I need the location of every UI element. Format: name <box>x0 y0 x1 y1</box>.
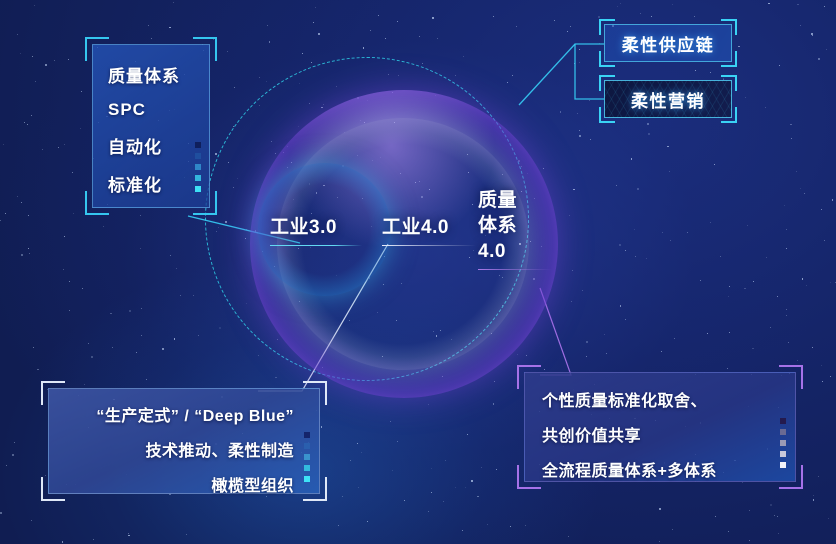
panel-personalized-quality-lines: 个性质量标准化取舍、 共创价值共享 全流程质量体系+多体系 <box>542 387 770 492</box>
corner-bracket-icon <box>779 465 803 489</box>
corner-bracket-icon <box>85 37 109 61</box>
list-item: 自动化 <box>108 133 200 158</box>
label-industry-30-text: 工业3.0 <box>270 212 362 239</box>
list-item: SPC <box>108 100 200 120</box>
corner-bracket-icon <box>303 381 327 405</box>
list-item: 共创价值共享 <box>542 422 770 446</box>
label-industry-40-underline <box>382 245 476 246</box>
corner-bracket-icon <box>517 365 541 389</box>
label-industry-30: 工业3.0 <box>270 212 362 246</box>
corner-bracket-icon <box>779 365 803 389</box>
panel-flexible-supply-chain[interactable]: 柔性供应链 <box>604 24 732 62</box>
panel-personalized-quality[interactable]: 个性质量标准化取舍、 共创价值共享 全流程质量体系+多体系 <box>524 372 796 482</box>
panel-flexible-marketing-label: 柔性营销 <box>604 80 732 118</box>
panel-quality-system-lines: 质量体系 SPC 自动化 标准化 <box>108 62 200 209</box>
panel-flexible-marketing[interactable]: 柔性营销 <box>604 80 732 118</box>
corner-bracket-icon <box>85 191 109 215</box>
corner-bracket-icon <box>193 37 217 61</box>
label-quality-line1: 质量 <box>478 188 552 213</box>
dot-column-decoration <box>304 432 310 482</box>
panel-flexible-supply-chain-label: 柔性供应链 <box>604 24 732 62</box>
label-quality-line3: 4.0 <box>478 239 552 264</box>
list-item: 质量体系 <box>108 62 200 87</box>
label-industry-40: 工业4.0 <box>382 212 476 246</box>
label-quality-underline <box>478 269 552 270</box>
list-item: 技术推动、柔性制造 <box>62 437 294 461</box>
corner-bracket-icon <box>517 465 541 489</box>
label-quality-line2: 体系 <box>478 213 552 238</box>
list-item: 橄榄型组织 <box>62 472 294 496</box>
dot-column-decoration <box>780 418 786 468</box>
label-quality-system-40: 质量 体系 4.0 <box>478 188 552 270</box>
connector-top-right <box>519 44 604 105</box>
list-item: 全流程质量体系+多体系 <box>542 457 770 481</box>
list-item: “生产定式” / “Deep Blue” <box>62 402 294 426</box>
infographic-canvas: 工业3.0 工业4.0 质量 体系 4.0 质量体系 SPC 自动化 标准化 <box>0 0 836 544</box>
list-item: 个性质量标准化取舍、 <box>542 387 770 411</box>
panel-quality-system-list[interactable]: 质量体系 SPC 自动化 标准化 <box>92 44 210 208</box>
label-industry-40-text: 工业4.0 <box>382 212 476 239</box>
dot-column-decoration <box>195 142 201 192</box>
list-item: 标准化 <box>108 171 200 196</box>
panel-production-model-lines: “生产定式” / “Deep Blue” 技术推动、柔性制造 橄榄型组织 <box>62 402 294 507</box>
label-industry-30-underline <box>270 245 362 246</box>
panel-production-model[interactable]: “生产定式” / “Deep Blue” 技术推动、柔性制造 橄榄型组织 <box>48 388 320 494</box>
